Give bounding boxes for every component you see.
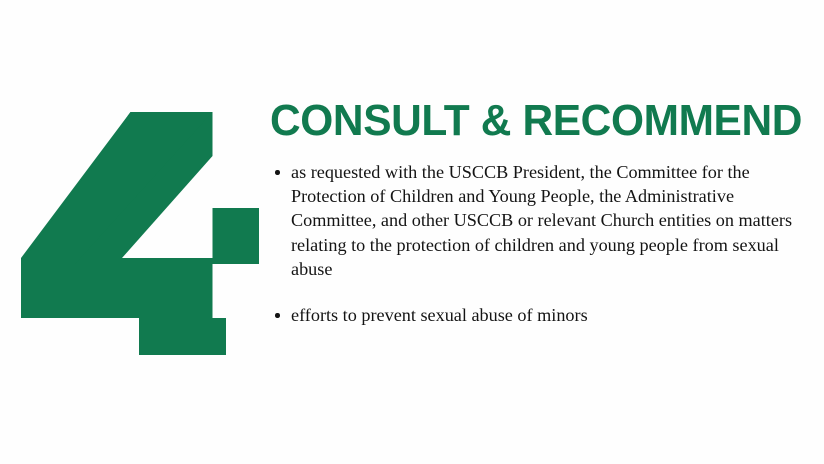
bullet-text: as requested with the USCCB President, t… xyxy=(291,160,795,281)
slide-content: CONSULT & RECOMMEND as requested with th… xyxy=(270,98,815,327)
list-item: efforts to prevent sexual abuse of minor… xyxy=(270,303,815,327)
list-item: as requested with the USCCB President, t… xyxy=(270,160,815,281)
numeral-four-icon xyxy=(0,96,270,376)
page-title: CONSULT & RECOMMEND xyxy=(270,98,796,144)
slide: CONSULT & RECOMMEND as requested with th… xyxy=(0,0,824,464)
bullet-list: as requested with the USCCB President, t… xyxy=(270,160,815,327)
slide-number-graphic xyxy=(0,96,270,376)
bullet-text: efforts to prevent sexual abuse of minor… xyxy=(291,303,795,327)
